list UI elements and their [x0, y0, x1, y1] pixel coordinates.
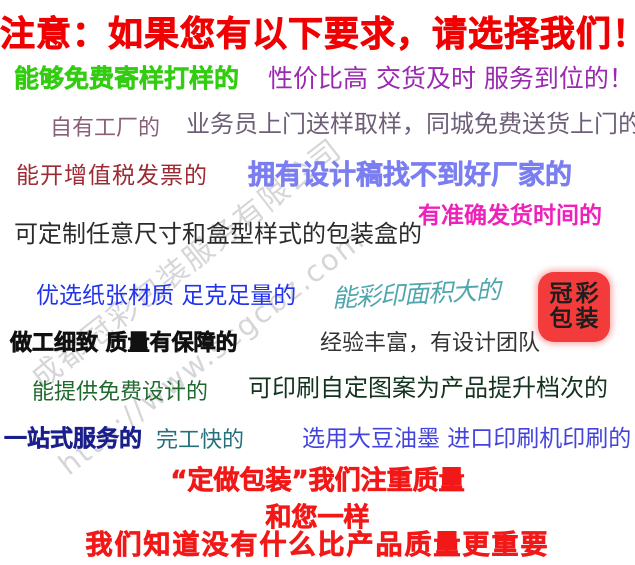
stamp-line-2: 包装	[547, 307, 602, 332]
feature-custom-size-box: 可定制任意尺寸和盒型样式的包装盒的	[14, 222, 422, 246]
feature-fine-workmanship: 做工细致 质量有保障的	[10, 333, 238, 355]
feature-quality-paper: 优选纸张材质 足克足量的	[36, 285, 296, 308]
headline-text: 注意：如果您有以下要求，请选择我们！	[0, 18, 635, 53]
feature-free-sample: 能够免费寄样打样的	[14, 66, 239, 91]
feature-value-delivery: 性价比高 交货及时 服务到位的！	[268, 66, 634, 91]
stamp-line-1: 冠彩	[547, 282, 602, 307]
closing-line-2: 和您一样	[0, 505, 635, 531]
feature-has-design-no-maker: 拥有设计稿找不到好厂家的	[248, 162, 572, 189]
feature-accurate-ship-time: 有准确发货时间的	[418, 205, 602, 228]
company-seal-stamp: 冠彩 包装	[538, 272, 610, 342]
closing-line-1: “定做包装”我们注重质量	[0, 468, 635, 494]
promo-banner: 成都冠彩包装服务有限公司 http://www.scgcbz.com 注意：如果…	[0, 0, 635, 565]
closing-line-3: 我们知道没有什么比产品质量更重要	[0, 532, 635, 559]
feature-one-stop-service: 一站式服务的	[4, 428, 142, 451]
feature-fast-completion: 完工快的	[156, 430, 244, 452]
feature-free-design: 能提供免费设计的	[32, 382, 208, 404]
feature-large-print-area: 能彩印面积大的	[331, 277, 500, 311]
feature-experienced-team: 经验丰富，有设计团队	[320, 333, 540, 355]
feature-own-factory: 自有工厂的	[50, 118, 160, 140]
feature-soy-ink-import: 选用大豆油墨 进口印刷机印刷的	[302, 428, 631, 451]
feature-sales-door-to-door: 业务员上门送样取样，同城免费送货上门的	[186, 112, 635, 136]
feature-vat-invoice: 能开增值税发票的	[16, 165, 208, 188]
feature-custom-artwork: 可印刷自定图案为产品提升档次的	[248, 376, 608, 400]
